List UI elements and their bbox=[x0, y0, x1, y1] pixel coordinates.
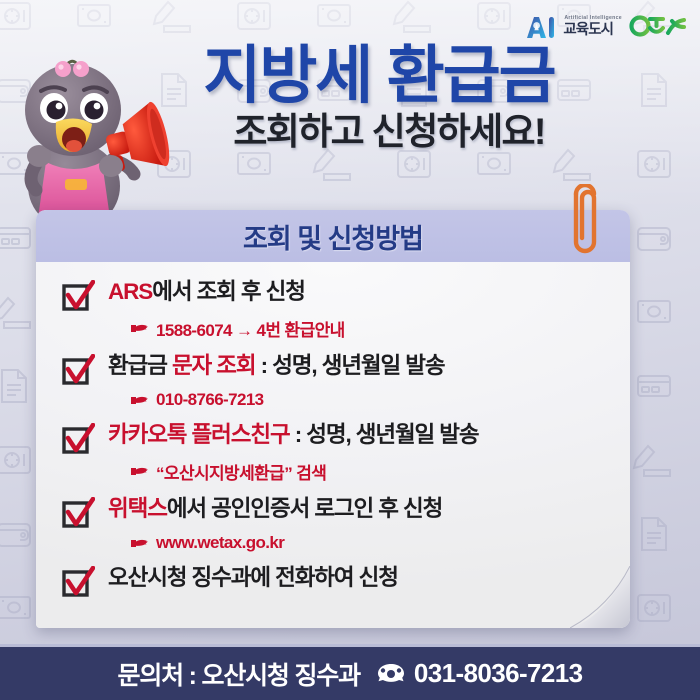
list-item-sub: 010-8766-7213 bbox=[130, 390, 610, 410]
card-header: 조회 및 신청방법 bbox=[36, 210, 630, 262]
list-item-sub-text: “오산시지방세환급” 검색 bbox=[156, 459, 326, 484]
list-item-sub: www.wetax.go.kr bbox=[130, 533, 610, 553]
osan-wordmark-icon bbox=[628, 13, 686, 41]
ai-logo-icon bbox=[524, 14, 557, 40]
checkbox-checked-icon bbox=[62, 423, 95, 454]
list-item-label: 카카오톡 플러스친구 : 성명, 생년월일 발송 bbox=[108, 421, 479, 449]
list-item-label: 위택스에서 공인인증서 로그인 후 신청 bbox=[108, 495, 442, 523]
list-item-main: 오산시청 징수과에 전화하여 신청 bbox=[62, 564, 610, 597]
list-item-highlight: 카카오톡 플러스친구 bbox=[108, 422, 290, 447]
pointing-hand-icon bbox=[130, 536, 149, 551]
pointing-hand-icon bbox=[130, 464, 149, 479]
page-title: 지방세 환급금 bbox=[0, 44, 700, 108]
pointing-hand-icon bbox=[130, 393, 149, 408]
city-logo: Artificial Intelligence 교육도시 bbox=[524, 10, 686, 44]
list-item: 위택스에서 공인인증서 로그인 후 신청www.wetax.go.kr bbox=[62, 495, 610, 553]
list-item-sub-text: www.wetax.go.kr bbox=[156, 533, 284, 553]
list-item-sub: “오산시지방세환급” 검색 bbox=[130, 459, 610, 484]
list-item-sub-text: 1588-6074 → 4번 환급안내 bbox=[156, 316, 345, 341]
list-item: 카카오톡 플러스친구 : 성명, 생년월일 발송“오산시지방세환급” 검색 bbox=[62, 421, 610, 484]
checkbox-checked-icon bbox=[62, 280, 95, 311]
poster-root: Artificial Intelligence 교육도시 지방세 환급금 조회하… bbox=[0, 0, 700, 700]
bird-mascot-with-megaphone bbox=[8, 36, 174, 218]
list-item-main: 카카오톡 플러스친구 : 성명, 생년월일 발송 bbox=[62, 421, 610, 454]
list-item-highlight: 문자 조회 bbox=[172, 353, 256, 378]
instructions-card: 조회 및 신청방법 ARS에서 조회 후 신청1588-6074 → 4번 환급… bbox=[36, 210, 630, 628]
pointing-hand-icon bbox=[130, 321, 149, 336]
card-body: ARS에서 조회 후 신청1588-6074 → 4번 환급안내환급금 문자 조… bbox=[36, 262, 630, 628]
checkbox-checked-icon bbox=[62, 566, 95, 597]
list-item-label: 환급금 문자 조회 : 성명, 생년월일 발송 bbox=[108, 352, 444, 380]
footer-phone-group: 031-8036-7213 bbox=[376, 658, 583, 689]
logo-korean-text: 교육도시 bbox=[563, 23, 622, 38]
list-item-highlight: 위택스 bbox=[108, 496, 167, 521]
footer-phone-number: 031-8036-7213 bbox=[414, 658, 583, 689]
checkbox-checked-icon bbox=[62, 354, 95, 385]
list-item: 오산시청 징수과에 전화하여 신청 bbox=[62, 564, 610, 597]
checkbox-checked-icon bbox=[62, 497, 95, 528]
card-header-title: 조회 및 신청방법 bbox=[243, 217, 423, 256]
footer-contact-label: 문의처 : 오산시청 징수과 bbox=[118, 656, 360, 692]
list-item-label: 오산시청 징수과에 전화하여 신청 bbox=[108, 564, 398, 592]
list-item: 환급금 문자 조회 : 성명, 생년월일 발송010-8766-7213 bbox=[62, 352, 610, 410]
list-item: ARS에서 조회 후 신청1588-6074 → 4번 환급안내 bbox=[62, 278, 610, 341]
logo-english-subtitle: Artificial Intelligence bbox=[564, 16, 622, 21]
instruction-list: ARS에서 조회 후 신청1588-6074 → 4번 환급안내환급금 문자 조… bbox=[62, 278, 610, 597]
list-item-main: ARS에서 조회 후 신청 bbox=[62, 278, 610, 311]
list-item-highlight: ARS bbox=[108, 279, 152, 304]
list-item-label: ARS에서 조회 후 신청 bbox=[108, 278, 305, 306]
list-item-main: 위택스에서 공인인증서 로그인 후 신청 bbox=[62, 495, 610, 528]
headline-block: 지방세 환급금 조회하고 신청하세요! bbox=[0, 44, 700, 153]
page-subtitle: 조회하고 신청하세요! bbox=[0, 112, 700, 153]
list-item-sub-text: 010-8766-7213 bbox=[156, 390, 264, 410]
list-item-sub: 1588-6074 → 4번 환급안내 bbox=[130, 316, 610, 341]
list-item-main: 환급금 문자 조회 : 성명, 생년월일 발송 bbox=[62, 352, 610, 385]
telephone-icon bbox=[376, 662, 406, 686]
footer-bar: 문의처 : 오산시청 징수과 031-8036-7213 bbox=[0, 644, 700, 700]
